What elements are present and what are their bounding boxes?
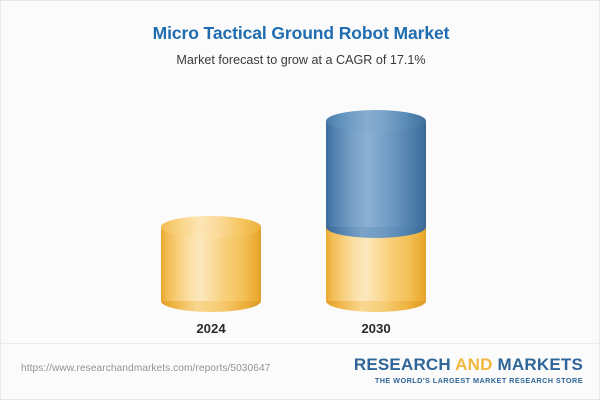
- cylinder-2024[interactable]: [161, 227, 261, 301]
- cylinder-2030[interactable]: [326, 121, 426, 301]
- cylinder-segment-blue-2030: [326, 121, 426, 227]
- cylinder-bottom-2030: [326, 301, 426, 312]
- category-label-2030: 2030: [296, 321, 456, 336]
- logo-tagline: THE WORLD'S LARGEST MARKET RESEARCH STOR…: [354, 376, 583, 385]
- cylinder-segment-yellow-2030: [326, 227, 426, 301]
- logo-research-text: RESEARCH: [354, 355, 455, 374]
- logo-and-text: AND: [455, 355, 492, 374]
- cylinder-segment-yellow-2024: [161, 227, 261, 301]
- cylinder-bottom-2024: [161, 301, 261, 312]
- cylinder-body-yellow-2030: [326, 227, 426, 301]
- chart-card: Micro Tactical Ground Robot Market Marke…: [0, 0, 600, 400]
- cylinder-top-cap-2030: [326, 110, 426, 132]
- cylinder-top-cap-2024: [161, 216, 261, 238]
- logo-wordmark: RESEARCH AND MARKETS: [354, 356, 583, 374]
- cylinder-body-2024: [161, 227, 261, 301]
- source-url[interactable]: https://www.researchandmarkets.com/repor…: [21, 363, 270, 374]
- logo-markets-text: MARKETS: [493, 355, 583, 374]
- cylinder-blue-bottom-2030: [326, 227, 426, 238]
- cylinder-body-blue-2030: [326, 121, 426, 227]
- brand-logo[interactable]: RESEARCH AND MARKETS THE WORLD'S LARGEST…: [354, 356, 583, 385]
- chart-footer: https://www.researchandmarkets.com/repor…: [1, 343, 600, 399]
- category-label-2024: 2024: [131, 321, 291, 336]
- chart-plot-area: USD 5.8 Billion 2024 USD 15 Billion: [1, 1, 600, 346]
